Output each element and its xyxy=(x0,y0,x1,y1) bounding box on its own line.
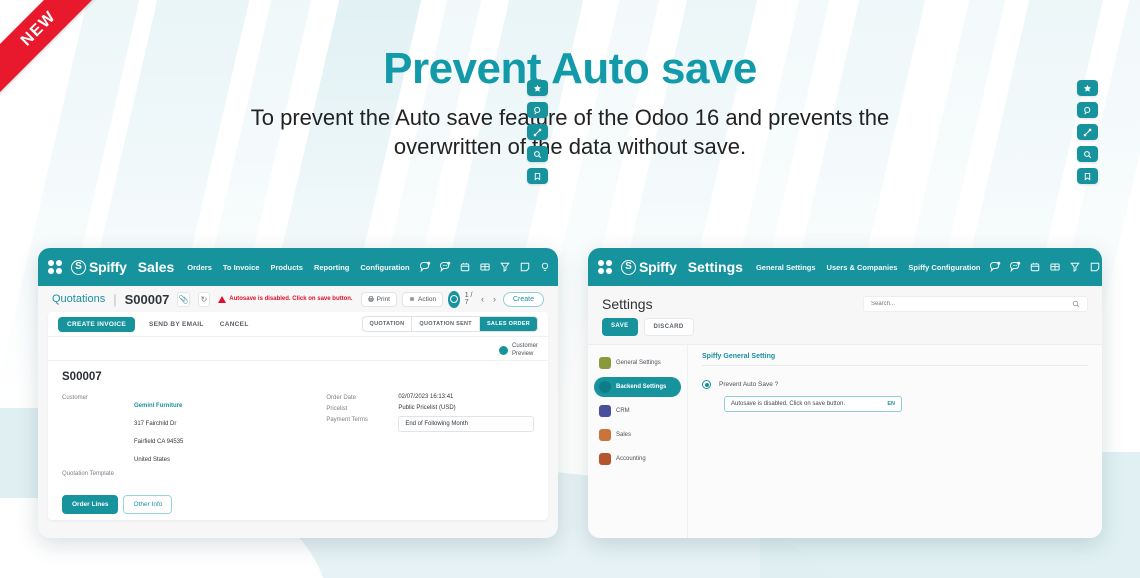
apps-grid-icon[interactable] xyxy=(48,260,62,275)
sales-menu: Orders To Invoice Products Reporting Con… xyxy=(187,263,409,272)
search-circle-icon[interactable] xyxy=(527,102,548,118)
search-icon[interactable] xyxy=(1072,300,1080,308)
search-box[interactable] xyxy=(863,296,1088,312)
fields-left-column: Customer Gemini Furniture 317 Fairchild … xyxy=(62,394,326,481)
sidebar-item-sales[interactable]: Sales xyxy=(594,425,681,445)
customer-field: Customer Gemini Furniture 317 Fairchild … xyxy=(62,394,326,466)
customer-preview-row: Customer Preview xyxy=(48,337,548,361)
zoom-icon[interactable] xyxy=(527,146,548,162)
breadcrumb-separator: | xyxy=(113,292,116,307)
record-id: S00007 xyxy=(125,292,170,307)
status-step-quotation-sent[interactable]: QUOTATION SENT xyxy=(412,317,480,331)
customer-preview-button[interactable]: Customer Preview xyxy=(499,343,538,358)
save-button[interactable]: SAVE xyxy=(602,318,638,336)
note-icon[interactable] xyxy=(1089,261,1101,273)
prevent-auto-save-option: Prevent Auto Save ? xyxy=(702,380,1088,389)
quotation-template-field: Quotation Template xyxy=(62,470,326,477)
spiffy-mark-icon: S xyxy=(621,260,636,275)
funnel-icon[interactable] xyxy=(1069,261,1081,273)
left-window-side-toolbar xyxy=(527,80,548,184)
menu-item-orders[interactable]: Orders xyxy=(187,263,212,272)
activities-icon[interactable] xyxy=(439,261,451,273)
messages-icon[interactable] xyxy=(989,261,1001,273)
quotation-sheet: CREATE INVOICE SEND BY EMAIL CANCEL QUOT… xyxy=(48,312,548,520)
settings-main-panel: Spiffy General Setting Prevent Auto Save… xyxy=(688,345,1102,538)
sidebar-item-accounting[interactable]: Accounting xyxy=(594,449,681,469)
cancel-button[interactable]: CANCEL xyxy=(220,321,249,328)
autosave-warning-text: Autosave is disabled. Click on save butt… xyxy=(229,296,352,302)
note-icon[interactable] xyxy=(519,261,531,273)
customer-preview-label-1: Customer xyxy=(512,343,538,349)
preview-globe-icon xyxy=(499,346,508,355)
bookmark-icon[interactable] xyxy=(527,168,548,184)
create-invoice-button[interactable]: CREATE INVOICE xyxy=(58,317,135,332)
bookmark-icon[interactable] xyxy=(1077,168,1098,184)
pricelist-label: Pricelist xyxy=(326,405,398,412)
prevent-auto-save-checkbox[interactable] xyxy=(702,380,711,389)
print-label: Print xyxy=(377,296,390,303)
brand-name: Spiffy xyxy=(639,259,677,275)
bug-icon[interactable] xyxy=(459,261,471,273)
settings-header: Settings xyxy=(588,286,1102,312)
messages-icon[interactable] xyxy=(419,261,431,273)
action-button[interactable]: Action xyxy=(402,292,443,307)
menu-item-users-companies[interactable]: Users & Companies xyxy=(827,263,898,272)
apps-grid-icon[interactable] xyxy=(598,260,612,275)
print-icon xyxy=(368,296,374,302)
prev-record-button[interactable]: ‹ xyxy=(479,294,486,304)
sales-icon xyxy=(599,429,611,441)
spiffy-mark-icon: S xyxy=(71,260,86,275)
accounting-icon xyxy=(599,453,611,465)
settings-navbar: S Spiffy Settings General Settings Users… xyxy=(588,248,1102,286)
status-step-sales-order[interactable]: SALES ORDER xyxy=(480,317,537,331)
create-button[interactable]: Create xyxy=(503,292,544,307)
breadcrumb-quotations[interactable]: Quotations xyxy=(52,293,105,305)
sidebar-label-crm: CRM xyxy=(616,408,630,414)
pricelist-field: Pricelist Public Pricelist (USD) xyxy=(326,405,534,412)
tab-order-lines[interactable]: Order Lines xyxy=(62,495,118,514)
order-date-value[interactable]: 02/07/2023 16:13:41 xyxy=(398,394,453,401)
language-badge[interactable]: EN xyxy=(887,401,895,407)
navbar-systray xyxy=(419,258,558,276)
gear-icon xyxy=(409,296,415,302)
search-input[interactable] xyxy=(871,301,1072,307)
sidebar-label-general-settings: General Settings xyxy=(616,360,661,366)
backend-settings-icon xyxy=(599,381,611,393)
navbar-systray xyxy=(989,258,1102,276)
section-title: Spiffy General Setting xyxy=(702,353,1088,366)
menu-item-to-invoice[interactable]: To Invoice xyxy=(223,263,260,272)
spiffy-logo[interactable]: S Spiffy xyxy=(71,259,127,275)
payment-terms-label: Payment Terms xyxy=(326,416,398,432)
edit-pencil-icon[interactable] xyxy=(1077,124,1098,140)
fields-right-column: Order Date 02/07/2023 16:13:41 Pricelist… xyxy=(326,394,534,481)
warning-triangle-icon xyxy=(218,296,226,303)
next-record-button[interactable]: › xyxy=(491,294,498,304)
app-name: Settings xyxy=(688,259,743,275)
sales-app-window: S Spiffy Sales Orders To Invoice Product… xyxy=(38,248,558,538)
undo-icon[interactable]: ↻ xyxy=(198,292,210,307)
app-name: Sales xyxy=(138,259,175,275)
search-circle-icon[interactable] xyxy=(1077,102,1098,118)
menu-item-configuration[interactable]: Configuration xyxy=(360,263,409,272)
tab-other-info[interactable]: Other Info xyxy=(123,495,172,514)
crm-icon xyxy=(599,405,611,417)
sidebar-item-crm[interactable]: CRM xyxy=(594,401,681,421)
status-step-quotation[interactable]: QUOTATION xyxy=(363,317,413,331)
sidebar-label-sales: Sales xyxy=(616,432,631,438)
menu-item-reporting[interactable]: Reporting xyxy=(314,263,349,272)
brand-name: Spiffy xyxy=(89,259,127,275)
autosave-message-value: Autosave is disabled. Click on save butt… xyxy=(731,401,887,407)
funnel-icon[interactable] xyxy=(499,261,511,273)
star-icon[interactable] xyxy=(1077,80,1098,96)
sidebar-label-backend-settings: Backend Settings xyxy=(616,384,666,390)
print-button[interactable]: Print xyxy=(361,292,397,307)
save-circle-icon[interactable] xyxy=(448,291,460,308)
promo-banner: NEW Prevent Auto save To prevent the Aut… xyxy=(0,0,1140,578)
sheet-tabs: Order Lines Other Info xyxy=(62,495,534,514)
page-title: Prevent Auto save xyxy=(0,44,1140,94)
autosave-message-input[interactable]: Autosave is disabled. Click on save butt… xyxy=(724,396,902,412)
spiffy-logo[interactable]: S Spiffy xyxy=(621,259,677,275)
sheet-status-bar: CREATE INVOICE SEND BY EMAIL CANCEL QUOT… xyxy=(48,312,548,337)
settings-body: General Settings Backend Settings CRM Sa… xyxy=(588,344,1102,538)
customer-name[interactable]: Gemini Furniture xyxy=(134,403,182,409)
action-label: Action xyxy=(418,296,436,303)
settings-page-title: Settings xyxy=(602,296,653,312)
pager: 1 / 7 xyxy=(465,292,474,306)
page-subtitle: To prevent the Auto save feature of the … xyxy=(250,104,890,161)
menu-item-spiffy-configuration[interactable]: Spiffy Configuration xyxy=(908,263,980,272)
lightbulb-icon[interactable] xyxy=(539,261,551,273)
activities-icon[interactable] xyxy=(1009,261,1021,273)
customer-address-3: United States xyxy=(134,457,170,463)
customer-address-1: 317 Fairchild Dr xyxy=(134,421,176,427)
settings-menu: General Settings Users & Companies Spiff… xyxy=(756,263,981,272)
quotation-body: S00007 Customer Gemini Furniture 317 Fai… xyxy=(48,361,548,520)
attachment-icon[interactable]: 📎 xyxy=(177,292,189,307)
grid-icon[interactable] xyxy=(479,261,491,273)
menu-item-products[interactable]: Products xyxy=(270,263,303,272)
grid-icon[interactable] xyxy=(1049,261,1061,273)
settings-action-buttons: SAVE DISCARD xyxy=(588,312,1102,344)
payment-terms-input[interactable]: End of Following Month xyxy=(398,416,534,432)
prevent-auto-save-label: Prevent Auto Save ? xyxy=(719,381,778,388)
settings-sidebar: General Settings Backend Settings CRM Sa… xyxy=(588,345,688,538)
quotation-fields: Customer Gemini Furniture 317 Fairchild … xyxy=(62,394,534,481)
control-bar-right: Print Action 1 / 7 ‹ › Create xyxy=(361,291,544,308)
payment-terms-field: Payment Terms End of Following Month xyxy=(326,416,534,432)
quotation-template-label: Quotation Template xyxy=(62,470,134,477)
sales-control-bar: Quotations | S00007 📎 ↻ Autosave is disa… xyxy=(38,286,558,312)
order-date-field: Order Date 02/07/2023 16:13:41 xyxy=(326,394,534,401)
right-window-side-toolbar xyxy=(1077,80,1098,184)
customer-address-2: Fairfield CA 94535 xyxy=(134,439,183,445)
send-by-email-button[interactable]: SEND BY EMAIL xyxy=(149,321,204,328)
star-icon[interactable] xyxy=(527,80,548,96)
document-title: S00007 xyxy=(62,371,534,383)
pricelist-value[interactable]: Public Pricelist (USD) xyxy=(398,405,455,412)
sidebar-label-accounting: Accounting xyxy=(616,456,646,462)
sidebar-item-backend-settings[interactable]: Backend Settings xyxy=(594,377,681,397)
edit-pencil-icon[interactable] xyxy=(527,124,548,140)
discard-button[interactable]: DISCARD xyxy=(644,318,694,336)
settings-app-window: S Spiffy Settings General Settings Users… xyxy=(588,248,1102,538)
zoom-icon[interactable] xyxy=(1077,146,1098,162)
autosave-warning: Autosave is disabled. Click on save butt… xyxy=(218,296,352,303)
customer-preview-label-2: Preview xyxy=(512,351,533,357)
customer-label: Customer xyxy=(62,394,134,466)
general-settings-icon xyxy=(599,357,611,369)
sidebar-item-general-settings[interactable]: General Settings xyxy=(594,353,681,373)
menu-item-general-settings[interactable]: General Settings xyxy=(756,263,816,272)
order-date-label: Order Date xyxy=(326,394,398,401)
sales-navbar: S Spiffy Sales Orders To Invoice Product… xyxy=(38,248,558,286)
bug-icon[interactable] xyxy=(1029,261,1041,273)
order-status-steps: QUOTATION QUOTATION SENT SALES ORDER xyxy=(362,316,539,332)
